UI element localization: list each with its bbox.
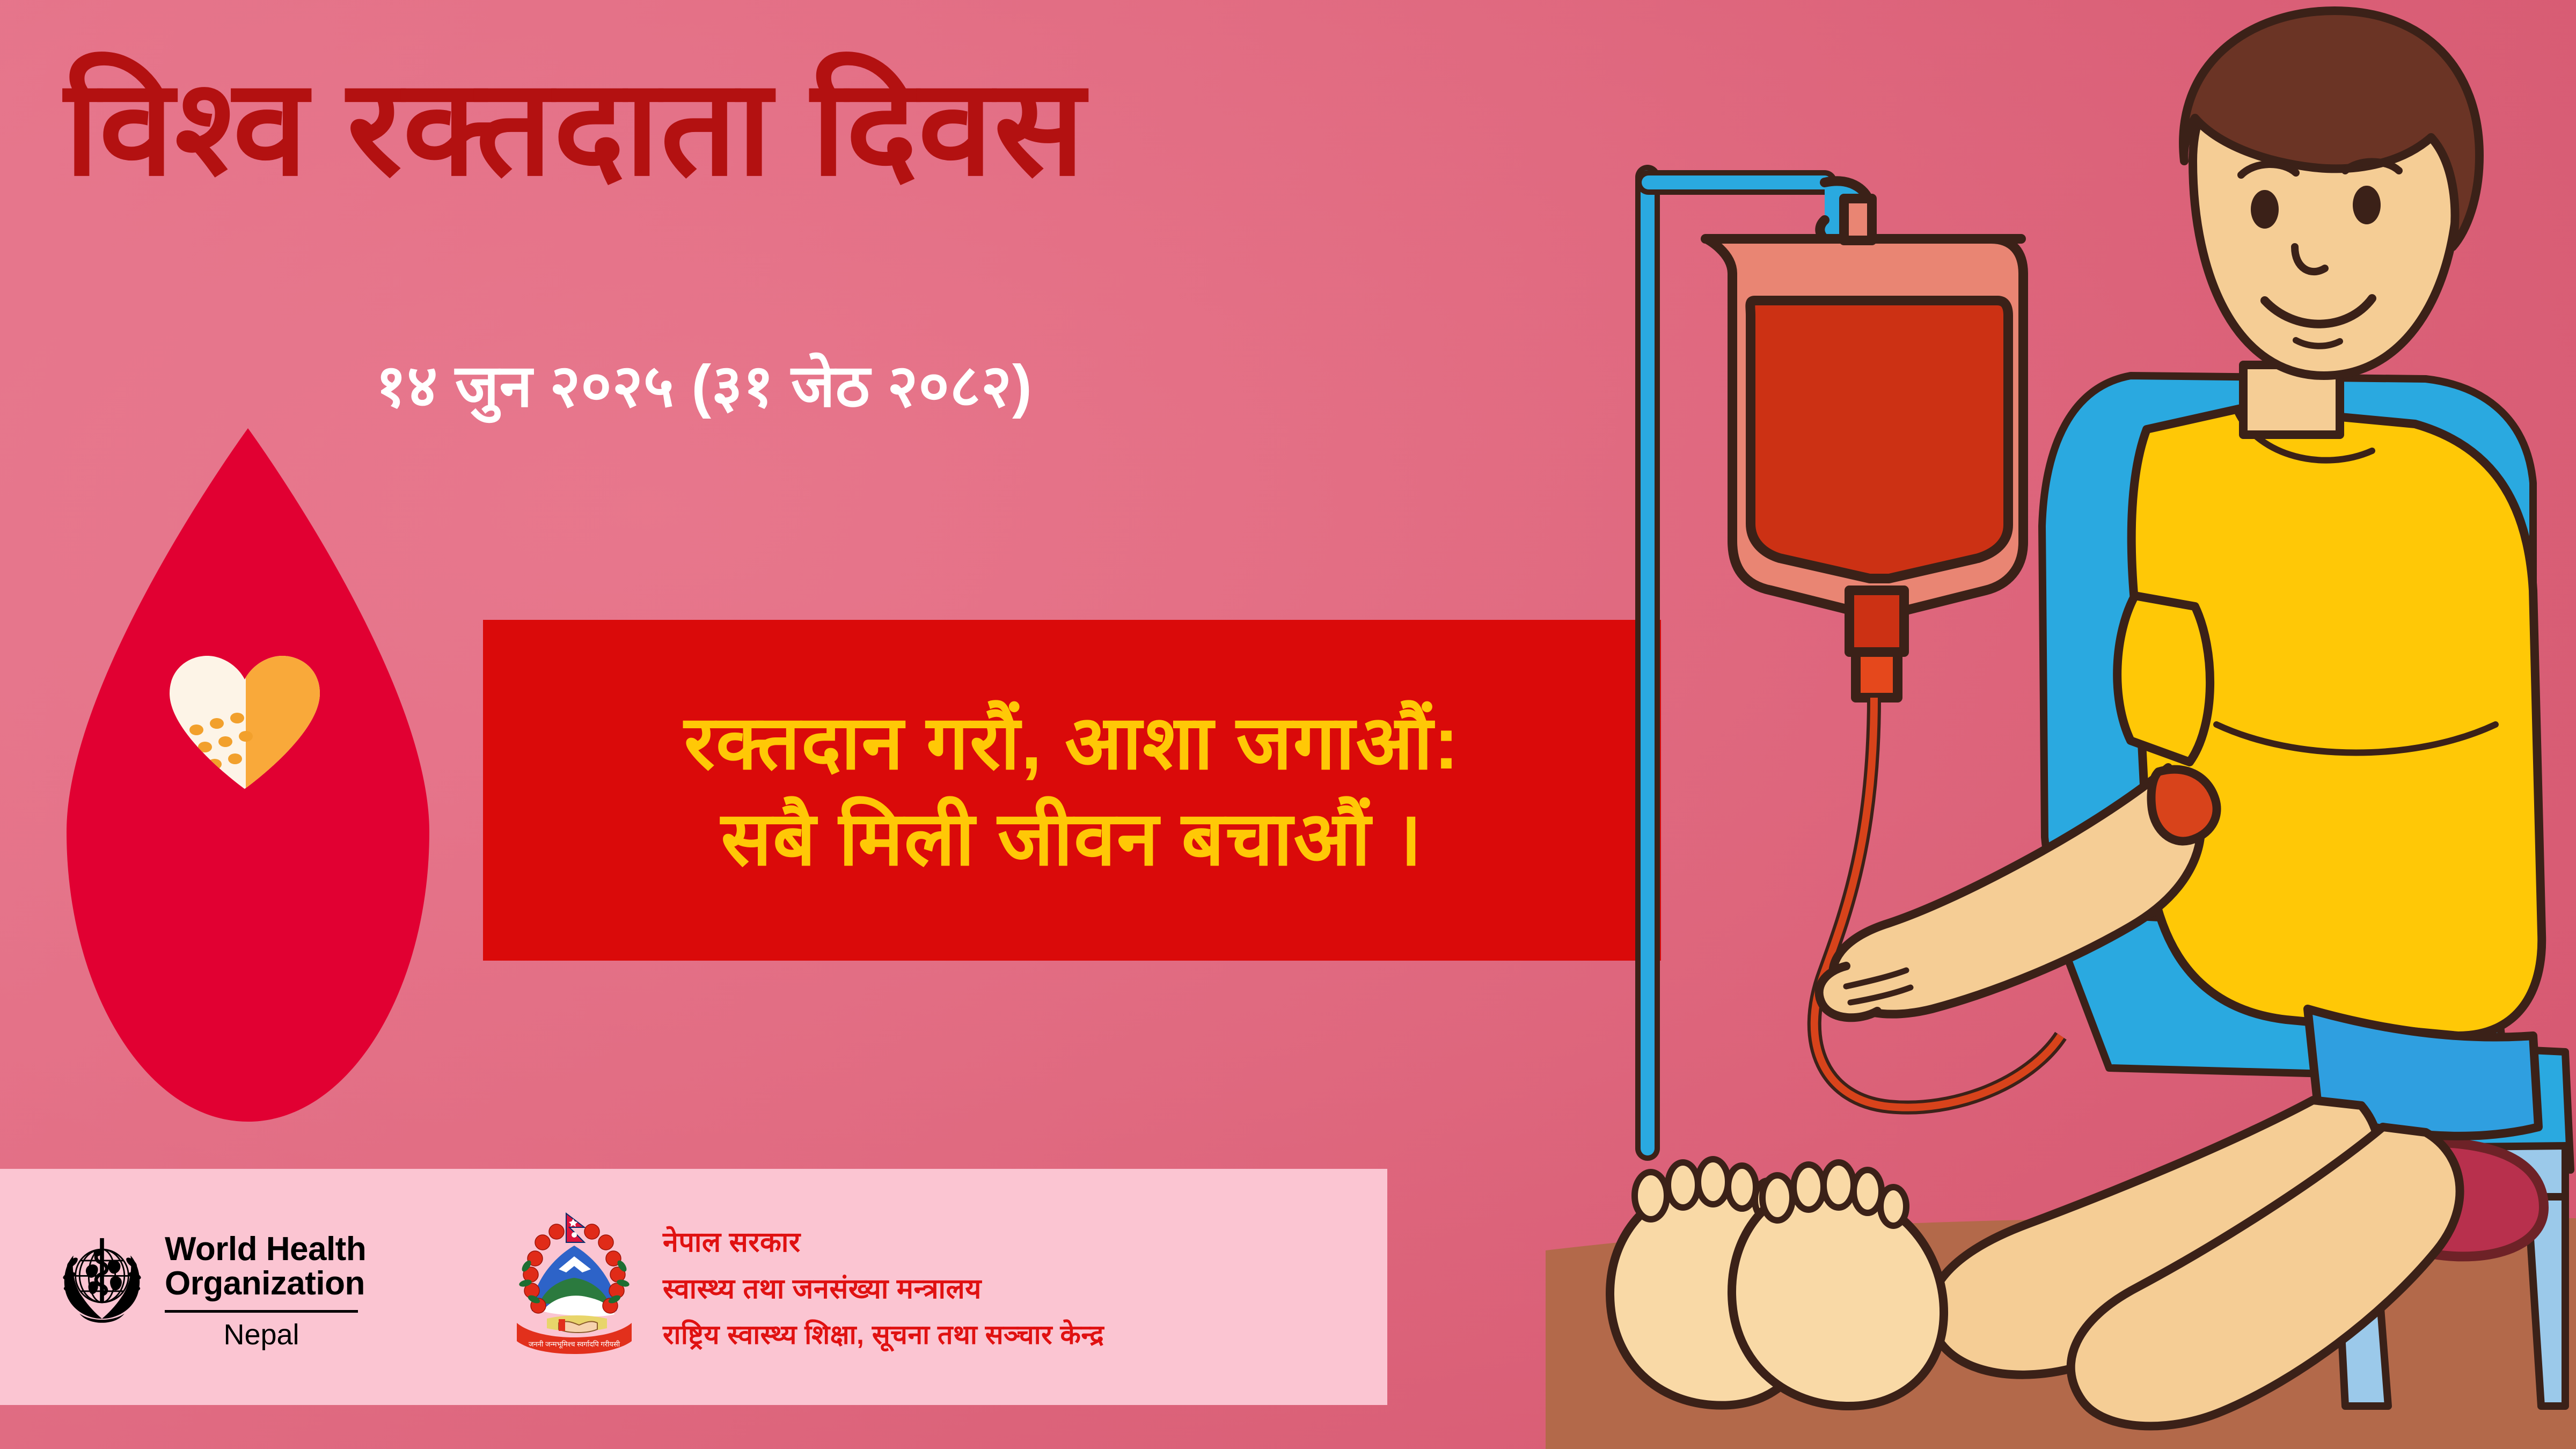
emblem-motto: जननी जन्मभूमिश्च स्वर्गादपि गरीयसी xyxy=(529,1340,620,1349)
slogan-banner: रक्तदान गरौं, आशा जगाऔं: सबै मिली जीवन ब… xyxy=(483,620,1661,961)
who-name-line-1: World Health xyxy=(165,1232,366,1266)
gov-line-1: नेपाल सरकार xyxy=(663,1222,1104,1260)
who-emblem-icon xyxy=(51,1229,153,1331)
blood-drop-icon xyxy=(59,424,402,1116)
government-logo-block: जननी जन्मभूमिश्च स्वर्गादपि गरीयसी नेपाल… xyxy=(507,1209,1104,1365)
page-title: विश्व रक्तदाता दिवस xyxy=(64,59,1086,196)
who-text-block: World Health Organization Nepal xyxy=(165,1223,366,1351)
slogan-line-1: रक्तदान गरौं, आशा जगाऔं: xyxy=(684,699,1460,786)
who-divider xyxy=(165,1310,358,1313)
slogan-line-2: सबै मिली जीवन बचाऔं । xyxy=(721,795,1423,882)
gov-line-2: स्वास्थ्य तथा जनसंख्या मन्त्रालय xyxy=(663,1269,1104,1307)
nepal-emblem-icon: जननी जन्मभूमिश्च स्वर्गादपि गरीयसी xyxy=(507,1209,641,1365)
footer-bar: World Health Organization Nepal xyxy=(0,1169,1387,1405)
who-logo-block: World Health Organization Nepal xyxy=(51,1223,405,1351)
gov-line-3: राष्ट्रिय स्वास्थ्य शिक्षा, सूचना तथा सञ… xyxy=(663,1315,1104,1352)
poster-canvas: विश्व रक्तदाता दिवस १४ जुन २०२५ (३१ जेठ … xyxy=(0,0,2576,1449)
who-country-label: Nepal xyxy=(165,1318,358,1351)
donor-illustration xyxy=(1546,0,2576,1449)
government-text-block: नेपाल सरकार स्वास्थ्य तथा जनसंख्या मन्त्… xyxy=(663,1222,1104,1352)
date-line: १४ जुन २०२५ (३१ जेठ २०८२) xyxy=(376,343,1033,424)
blood-drop-graphic xyxy=(59,424,435,1138)
who-name-line-2: Organization xyxy=(165,1267,366,1300)
